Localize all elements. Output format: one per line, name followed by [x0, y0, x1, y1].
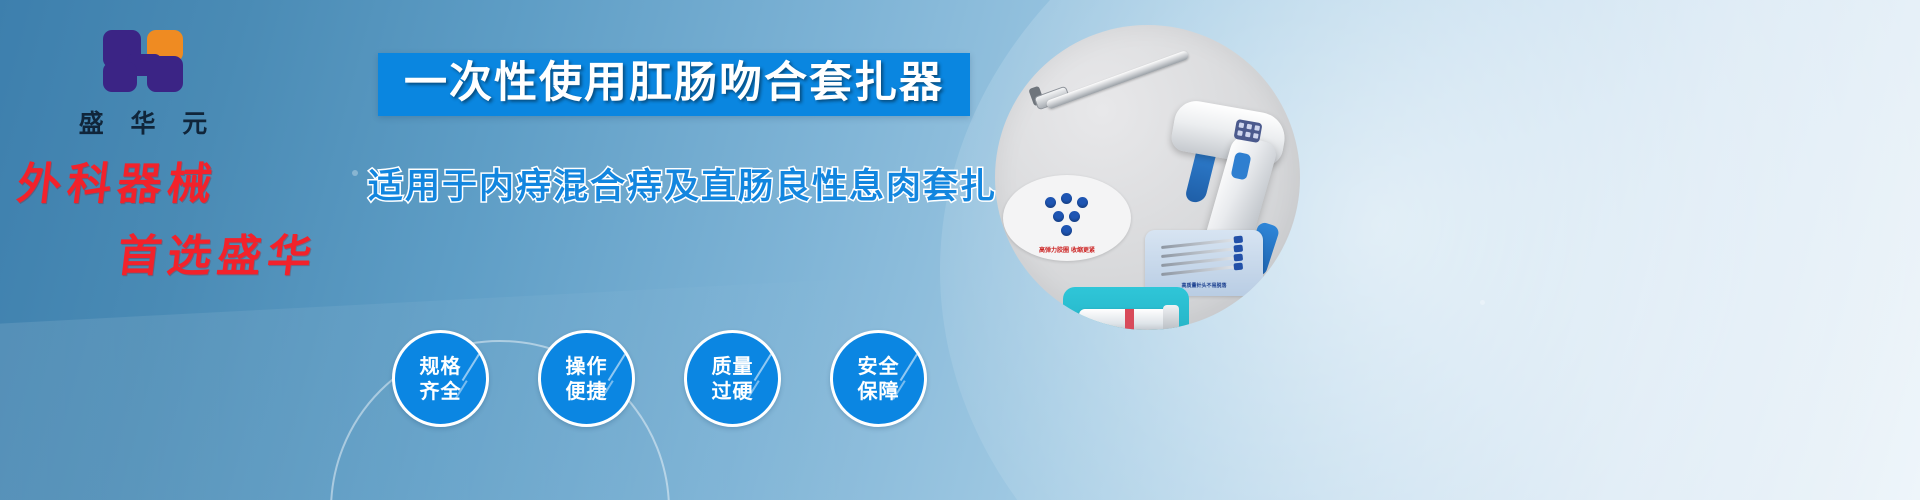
headline-title: 一次性使用肛肠吻合套扎器: [404, 59, 944, 108]
company-logo-icon: [97, 26, 189, 98]
badge-line-2: 便捷: [566, 379, 608, 403]
badge-line-2: 齐全: [420, 379, 462, 403]
slogan-line-2: 首选盛华: [114, 220, 322, 284]
tube-inset: [1063, 287, 1189, 330]
tube-band: [1125, 309, 1134, 330]
brand-logo-block[interactable]: 盛 华 元: [58, 26, 228, 140]
inset-caption-rings: 高弹力胶圈 收缩更紧: [1003, 245, 1131, 254]
feature-badge-group: 规格 齐全 操作 便捷 质量 过硬 安全 保障: [392, 330, 927, 427]
badge-line-1: 质量: [712, 354, 754, 378]
feature-badge-quality[interactable]: 质量 过硬: [684, 330, 781, 427]
badge-line-1: 安全: [858, 354, 900, 378]
device-shaft: [1045, 50, 1189, 110]
slogan-block: 外科器械 首选盛华: [18, 148, 318, 284]
subheadline: 适用于内痔混合痔及直肠良性息肉套扎治疗: [368, 158, 1071, 209]
product-photo: 高弹力胶圈 收缩更紧 高质量针头不易脱落: [995, 25, 1300, 330]
feature-badge-safety[interactable]: 安全 保障: [830, 330, 927, 427]
company-name: 盛 华 元: [58, 104, 228, 140]
badge-line-2: 保障: [858, 379, 900, 403]
badge-line-1: 操作: [566, 354, 608, 378]
logo-square-bottom-left: [103, 62, 137, 92]
device-control-panel: [1233, 119, 1262, 143]
logo-square-bottom-right: [147, 56, 183, 92]
feature-badge-operation[interactable]: 操作 便捷: [538, 330, 635, 427]
badge-line-2: 过硬: [712, 379, 754, 403]
headline-bar: 一次性使用肛肠吻合套扎器: [378, 53, 970, 116]
background-dot: [1480, 300, 1485, 305]
background-dot: [352, 170, 358, 176]
tube-cap: [1163, 305, 1179, 330]
slogan-line-1: 外科器械: [14, 148, 322, 212]
ligation-rings-inset: 高弹力胶圈 收缩更紧: [1003, 175, 1131, 261]
badge-line-1: 规格: [420, 354, 462, 378]
feature-badge-specifications[interactable]: 规格 齐全: [392, 330, 489, 427]
